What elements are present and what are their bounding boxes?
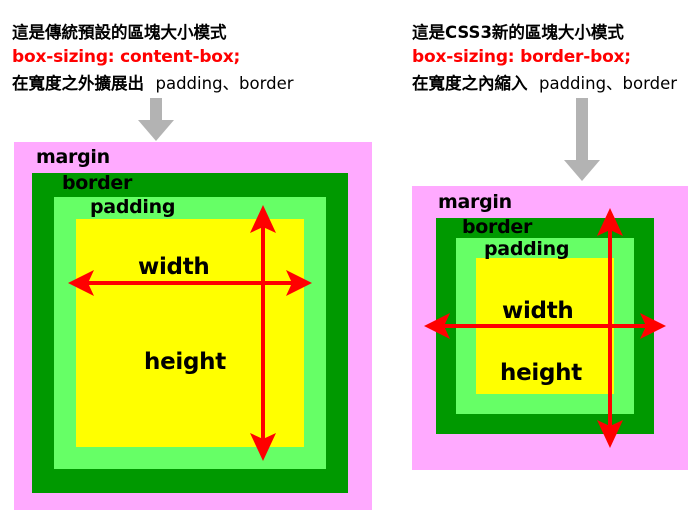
height-arrow <box>247 205 279 461</box>
left-caption-block: 這是傳統預設的區塊大小模式 box-sizing: content-box; 在… <box>12 20 294 96</box>
right-caption-line3-prefix: 在寬度之內縮入 <box>412 74 528 93</box>
left-caption-line-1: 這是傳統預設的區塊大小模式 <box>12 20 294 45</box>
height-arrow <box>594 208 626 448</box>
width-label: width <box>502 298 573 324</box>
right-caption-line-3: 在寬度之內縮入 padding、border <box>412 71 677 96</box>
down-arrow-icon <box>562 98 602 182</box>
left-caption-line-3: 在寬度之外擴展出 padding、border <box>12 71 294 96</box>
down-arrow-icon <box>136 98 176 142</box>
width-label: width <box>138 254 209 280</box>
margin-label: margin <box>36 146 110 168</box>
border-box-diagram: margin border padding width height <box>412 186 688 470</box>
padding-label: padding <box>484 238 569 260</box>
border-label: border <box>462 216 532 238</box>
height-label: height <box>500 360 582 386</box>
left-caption-line3-prefix: 在寬度之外擴展出 <box>12 74 144 93</box>
margin-label: margin <box>438 191 512 213</box>
left-caption-line3-code: padding、border <box>156 74 294 93</box>
right-caption-code: box-sizing: border-box; <box>412 45 677 71</box>
padding-label: padding <box>90 196 175 218</box>
right-caption-line-1: 這是CSS3新的區塊大小模式 <box>412 20 677 45</box>
height-label: height <box>144 349 226 375</box>
right-caption-block: 這是CSS3新的區塊大小模式 box-sizing: border-box; 在… <box>412 20 677 96</box>
right-caption-line3-code: padding、border <box>539 74 677 93</box>
border-label: border <box>62 172 132 194</box>
diagram-canvas: 這是傳統預設的區塊大小模式 box-sizing: content-box; 在… <box>0 0 700 514</box>
left-caption-code: box-sizing: content-box; <box>12 45 294 71</box>
content-box-diagram: margin border padding width height <box>14 142 372 510</box>
